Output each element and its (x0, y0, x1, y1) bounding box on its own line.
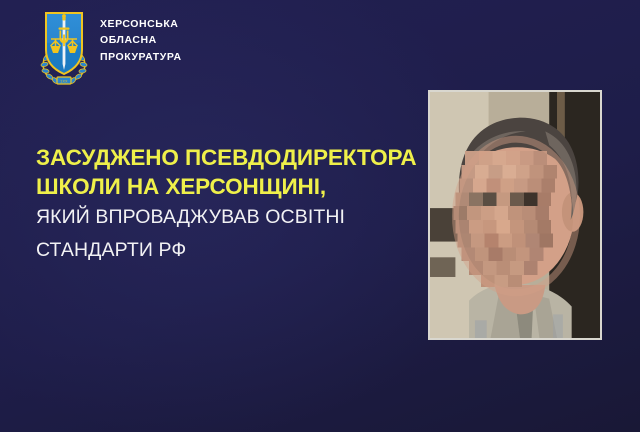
headline-highlight-line-1: ЗАСУДЖЕНО ПСЕВДОДИРЕКТОРА (36, 143, 406, 172)
brand-line-2: ОБЛАСНА (100, 32, 182, 48)
portrait-image (430, 92, 600, 338)
headline-highlight-line-2: ШКОЛИ НА ХЕРСОНЩИНІ, (36, 172, 406, 201)
censored-portrait-photo (428, 90, 602, 340)
brand-title: ХЕРСОНСЬКА ОБЛАСНА ПРОКУРАТУРА (100, 8, 182, 65)
headline-sub-line-2: СТАНДАРТИ РФ (36, 234, 406, 267)
headline-block: ЗАСУДЖЕНО ПСЕВДОДИРЕКТОРА ШКОЛИ НА ХЕРСО… (36, 143, 406, 267)
brand-line-3: ПРОКУРАТУРА (100, 49, 182, 65)
svg-text:1XX: 1XX (60, 79, 68, 83)
photo-inner (430, 92, 600, 338)
prosecutor-emblem-icon: 1XX (38, 8, 90, 86)
headline-sub-line-1: ЯКИЙ ВПРОВАДЖУВАВ ОСВІТНІ (36, 201, 406, 234)
brand-line-1: ХЕРСОНСЬКА (100, 16, 182, 32)
prosecutors-office-announcement-poster: 1XX ХЕРСОНСЬКА ОБЛАСНА ПРОКУРАТУРА ЗАСУД… (0, 0, 640, 432)
brand-block: 1XX ХЕРСОНСЬКА ОБЛАСНА ПРОКУРАТУРА (38, 8, 182, 86)
